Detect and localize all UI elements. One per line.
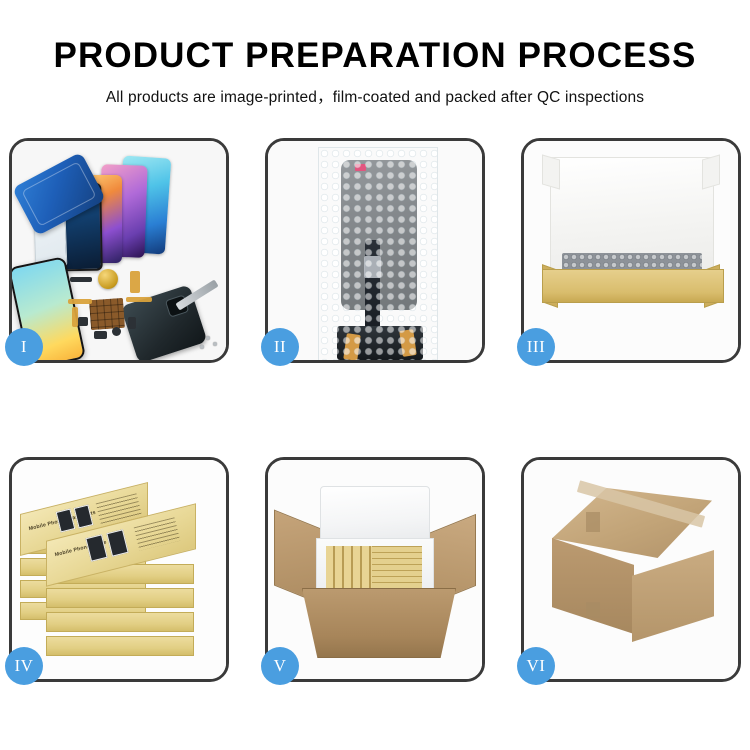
step-2-image [268, 141, 482, 360]
step-6-image [524, 460, 738, 679]
retail-box-icon [46, 588, 194, 608]
stacked-boxes-scene: Mobile Phone Spare Parts Mobile Phone Sp… [12, 460, 226, 679]
screw-icon [213, 342, 217, 346]
process-step-panel-5[interactable]: V [265, 457, 485, 682]
step-badge-2: II [261, 328, 299, 366]
box-flap-icon [702, 154, 720, 189]
circuit-board-icon [89, 298, 125, 330]
step-3-image [524, 141, 738, 360]
box-flap-icon [542, 154, 560, 189]
box-tray-front-icon [542, 269, 724, 303]
sealed-carton-scene [524, 460, 738, 679]
foam-lid-icon [320, 486, 430, 544]
tape-edge-icon [586, 512, 600, 532]
step-badge-1: I [5, 328, 43, 366]
copper-coil-icon [98, 269, 118, 289]
step-badge-6: VI [517, 647, 555, 685]
page-header: PRODUCT PREPARATION PROCESS All products… [0, 0, 750, 107]
carton-left-face-icon [552, 538, 634, 634]
step-badge-5: V [261, 647, 299, 685]
retail-box-icon [46, 636, 194, 656]
process-step-grid: I II [9, 138, 741, 682]
component-icon [94, 331, 107, 339]
process-step-panel-6[interactable]: VI [521, 457, 741, 682]
carton-foam-scene [268, 460, 482, 679]
component-icon [128, 317, 136, 329]
process-step-panel-2[interactable]: II [265, 138, 485, 363]
open-flat-box-scene [524, 141, 738, 360]
bubble-wrap-scene [268, 141, 482, 360]
flex-cable-icon [126, 297, 152, 302]
carton-body-icon [302, 588, 456, 658]
bubble-wrap-bag-icon [318, 147, 438, 360]
box-stack-texture [372, 546, 422, 588]
step-badge-3: III [517, 328, 555, 366]
carton-right-face-icon [632, 550, 714, 642]
process-step-panel-3[interactable]: III [521, 138, 741, 363]
step-1-image [12, 141, 226, 360]
retail-box-icon [46, 612, 194, 632]
packed-boxes-icon [326, 546, 422, 588]
process-step-panel-1[interactable]: I [9, 138, 229, 363]
flex-cable-icon [130, 271, 140, 293]
bubble-texture-overlay [319, 148, 437, 360]
step-5-image [268, 460, 482, 679]
screw-icon [206, 336, 210, 340]
step-badge-4: IV [5, 647, 43, 685]
flex-cable-icon [72, 307, 78, 327]
page-title: PRODUCT PREPARATION PROCESS [0, 0, 750, 76]
step-4-image: Mobile Phone Spare Parts Mobile Phone Sp… [12, 460, 226, 679]
flex-cable-icon [68, 299, 92, 304]
screw-icon [200, 345, 204, 349]
component-icon [78, 317, 88, 326]
component-icon [70, 277, 92, 282]
process-step-panel-4[interactable]: Mobile Phone Spare Parts Mobile Phone Sp… [9, 457, 229, 682]
page-subtitle: All products are image-printed，film-coat… [0, 76, 750, 107]
component-icon [112, 327, 121, 336]
phone-parts-scene [12, 141, 226, 360]
tape-edge-icon [586, 602, 600, 618]
